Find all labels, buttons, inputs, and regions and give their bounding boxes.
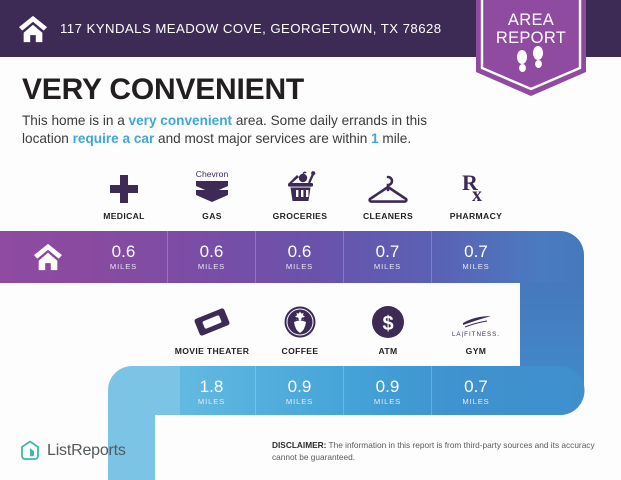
category-label: GYM — [466, 346, 487, 356]
distance-unit: MILES — [462, 262, 489, 271]
category-atm: $ ATM — [344, 303, 432, 356]
distance-value: 0.7 — [376, 243, 400, 261]
area-report-badge: AREA REPORT — [472, 0, 590, 94]
category-label: CLEANERS — [363, 211, 413, 221]
area-report-infographic: 117 KYNDALS MEADOW COVE, GEORGETOWN, TX … — [0, 0, 621, 480]
distance-value: 0.7 — [464, 243, 488, 261]
distance-unit: MILES — [374, 262, 401, 271]
category-coffee: COFFEE — [256, 303, 344, 356]
distance-unit: MILES — [198, 397, 225, 406]
category-label: PHARMACY — [450, 211, 502, 221]
distance-unit: MILES — [462, 397, 489, 406]
distance-value: 1.8 — [200, 378, 224, 396]
distance-cell-coffee: 0.9 MILES — [256, 366, 344, 418]
distance-cell-cleaners: 0.7 MILES — [344, 231, 432, 283]
distance-cell-gas: 0.6 MILES — [168, 231, 256, 283]
distance-value: 0.9 — [288, 378, 312, 396]
distance-value: 0.6 — [200, 243, 224, 261]
distance-bar-row-2: 1.8 MILES 0.9 MILES 0.9 MILES 0.7 MILES — [168, 366, 520, 418]
distance-cell-groceries: 0.6 MILES — [256, 231, 344, 283]
clothes-hanger-icon — [366, 168, 410, 204]
category-label: MEDICAL — [103, 211, 145, 221]
distance-cell-gym: 0.7 MILES — [432, 366, 520, 418]
chevron-gas-icon: Chevron — [190, 168, 234, 204]
category-cleaners: CLEANERS — [344, 168, 432, 221]
category-label: ATM — [378, 346, 397, 356]
category-groceries: GROCERIES — [256, 168, 344, 221]
movie-ticket-icon — [192, 303, 232, 339]
distance-unit: MILES — [374, 397, 401, 406]
disclaimer-label: DISCLAIMER: — [272, 440, 326, 450]
brand-name: ListReports — [47, 442, 126, 460]
category-icon-row-1: MEDICAL Chevron GAS — [80, 168, 520, 221]
svg-text:Chevron: Chevron — [196, 169, 229, 179]
badge-label: AREA REPORT — [472, 11, 590, 47]
distance-value: 0.9 — [376, 378, 400, 396]
home-origin-cell — [16, 231, 80, 283]
grocery-basket-icon — [282, 168, 318, 204]
category-gym: LA|FITNESS. GYM — [432, 303, 520, 356]
badge-line-1: AREA — [472, 11, 590, 29]
distance-unit: MILES — [286, 262, 313, 271]
distance-value: 0.7 — [464, 378, 488, 396]
svg-text:LA|FITNESS.: LA|FITNESS. — [452, 331, 500, 338]
svg-text:$: $ — [382, 313, 393, 335]
distance-cell-atm: 0.9 MILES — [344, 366, 432, 418]
starbucks-icon — [283, 303, 317, 339]
distance-unit: MILES — [198, 262, 225, 271]
badge-line-2: REPORT — [472, 29, 590, 47]
listreports-house-icon — [20, 440, 40, 462]
category-movie-theater: MOVIE THEATER — [168, 303, 256, 356]
rx-icon: R x — [459, 168, 493, 204]
category-label: GAS — [202, 211, 222, 221]
distance-unit: MILES — [110, 262, 137, 271]
distance-cell-pharmacy: 0.7 MILES — [432, 231, 520, 283]
category-label: COFFEE — [282, 346, 319, 356]
distance-bar-row-1: 0.6 MILES 0.6 MILES 0.6 MILES 0.7 MILES … — [80, 231, 520, 283]
category-pharmacy: R x PHARMACY — [432, 168, 520, 221]
category-label: MOVIE THEATER — [175, 346, 250, 356]
disclaimer: DISCLAIMER: The information in this repo… — [272, 440, 602, 463]
category-label: GROCERIES — [273, 211, 328, 221]
medical-cross-icon — [109, 168, 139, 204]
distance-value: 0.6 — [112, 243, 136, 261]
distance-cell-medical: 0.6 MILES — [80, 231, 168, 283]
svg-text:x: x — [472, 184, 482, 204]
home-icon — [33, 243, 63, 271]
listreports-logo: ListReports — [20, 440, 126, 462]
category-gas: Chevron GAS — [168, 168, 256, 221]
la-fitness-icon: LA|FITNESS. — [445, 303, 507, 339]
distance-cell-movie-theater: 1.8 MILES — [168, 366, 256, 418]
distance-unit: MILES — [286, 397, 313, 406]
category-medical: MEDICAL — [80, 168, 168, 221]
distance-value: 0.6 — [288, 243, 312, 261]
dollar-circle-icon: $ — [371, 303, 405, 339]
category-icon-row-2: MOVIE THEATER COFFEE — [168, 303, 520, 356]
